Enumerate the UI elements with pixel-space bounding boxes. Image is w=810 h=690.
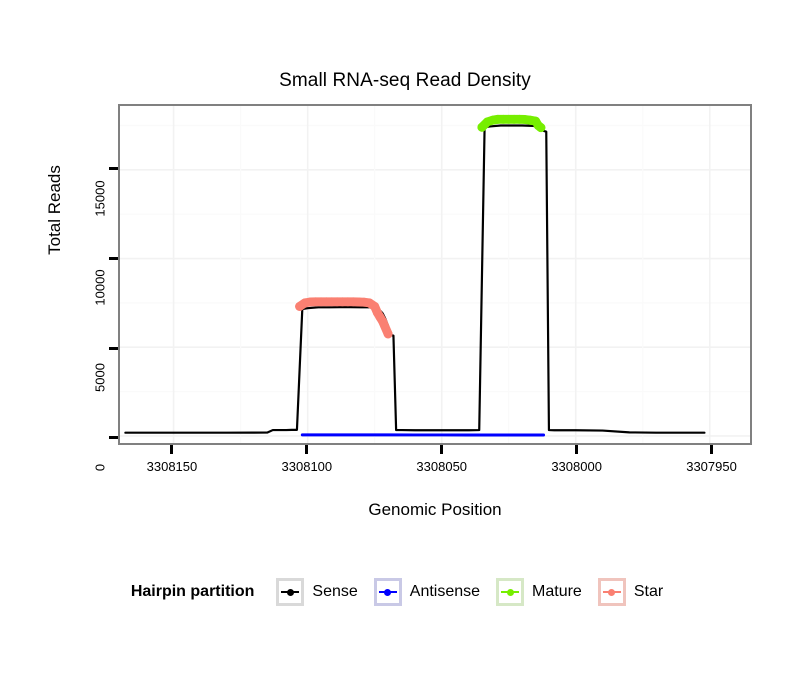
x-tick-label: 3308100: [247, 459, 367, 474]
chart-legend: Hairpin partition SenseAntisenseMatureSt…: [0, 578, 810, 606]
x-tick-mark: [440, 445, 443, 454]
x-tick-label: 3308050: [382, 459, 502, 474]
legend-label: Star: [634, 583, 663, 601]
legend-label: Sense: [312, 583, 357, 601]
legend-title: Hairpin partition: [131, 583, 255, 601]
chart-title: Small RNA-seq Read Density: [0, 70, 810, 92]
legend-label: Antisense: [410, 583, 480, 601]
x-tick-mark: [575, 445, 578, 454]
series-sense: [125, 126, 704, 433]
y-tick-label: 10000: [93, 258, 108, 318]
legend-entry-sense[interactable]: Sense: [276, 578, 357, 606]
y-tick-mark: [109, 167, 118, 170]
series-mature: [477, 115, 545, 132]
plot-panel: [118, 104, 752, 445]
x-tick-mark: [305, 445, 308, 454]
legend-key-icon: [496, 578, 524, 606]
y-tick-label: 15000: [93, 168, 108, 228]
legend-entry-star[interactable]: Star: [598, 578, 663, 606]
x-tick-mark: [170, 445, 173, 454]
x-tick-mark: [710, 445, 713, 454]
x-axis-label: Genomic Position: [118, 500, 752, 520]
y-tick-mark: [109, 347, 118, 350]
y-tick-label: 0: [93, 437, 108, 497]
y-tick-mark: [109, 436, 118, 439]
legend-entry-antisense[interactable]: Antisense: [374, 578, 480, 606]
y-axis-label: Total Reads: [45, 110, 65, 310]
y-tick-label: 5000: [93, 348, 108, 408]
x-tick-label: 3307950: [652, 459, 772, 474]
plot-area: [120, 106, 750, 443]
legend-key-icon: [598, 578, 626, 606]
legend-label: Mature: [532, 583, 582, 601]
x-tick-label: 3308000: [517, 459, 637, 474]
legend-entry-list: SenseAntisenseMatureStar: [276, 578, 679, 606]
series-star: [295, 297, 392, 338]
legend-key-icon: [276, 578, 304, 606]
x-tick-label: 3308150: [112, 459, 232, 474]
legend-key-icon: [374, 578, 402, 606]
legend-entry-mature[interactable]: Mature: [496, 578, 582, 606]
chart-figure: Small RNA-seq Read Density Total Reads 0…: [0, 0, 810, 690]
y-tick-mark: [109, 257, 118, 260]
